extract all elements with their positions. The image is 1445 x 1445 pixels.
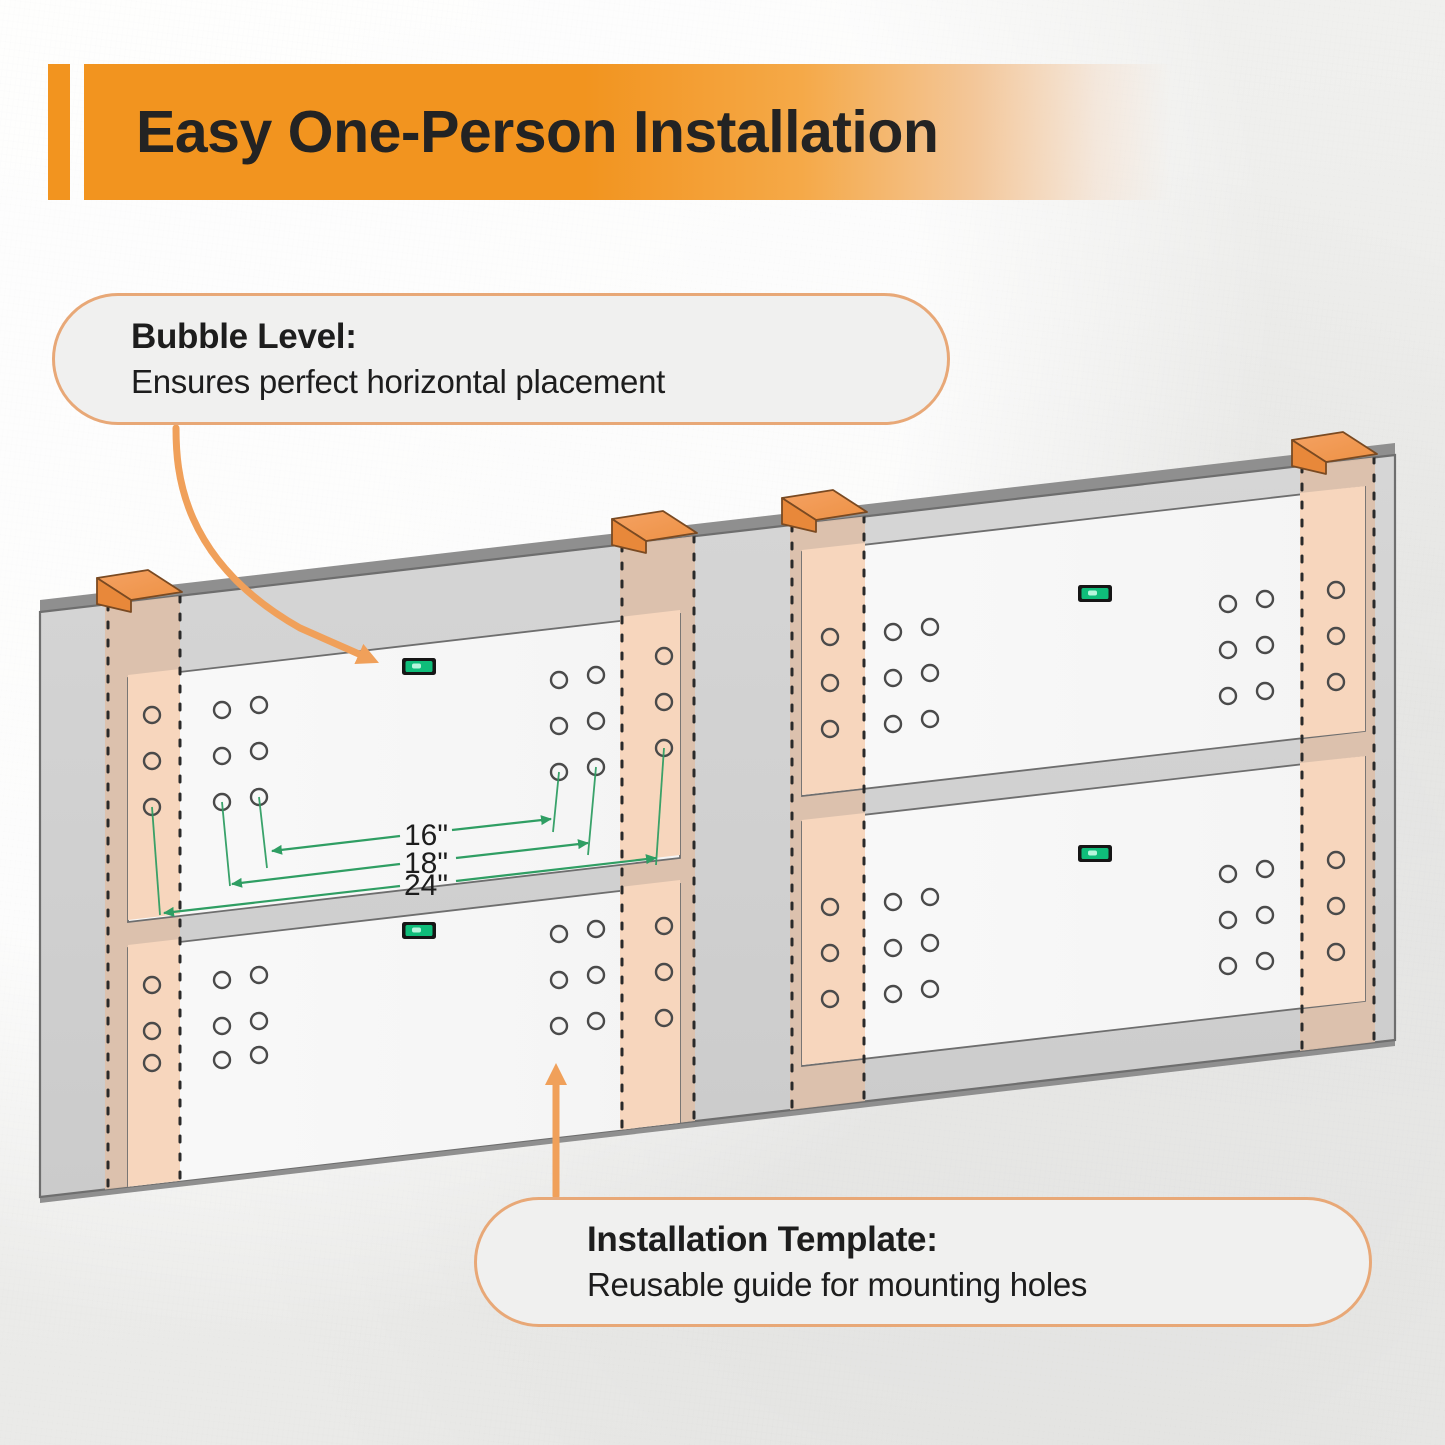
header-banner: Easy One-Person Installation <box>48 64 1172 200</box>
callout-bubble-level-title: Bubble Level: <box>131 317 947 357</box>
callout-installation-template: Installation Template: Reusable guide fo… <box>474 1197 1372 1327</box>
dimension-label-24: 24" <box>404 869 448 902</box>
callout-bubble-level: Bubble Level: Ensures perfect horizontal… <box>52 293 950 425</box>
stud-strip-lit <box>1300 486 1365 738</box>
callout-installation-template-subtitle: Reusable guide for mounting holes <box>587 1266 1369 1304</box>
stud-strip-lit <box>802 543 865 795</box>
callout-installation-template-title: Installation Template: <box>587 1220 1369 1260</box>
stud-strip-lit <box>802 813 865 1065</box>
bubble-level-indicator <box>1078 845 1112 862</box>
page-title: Easy One-Person Installation <box>136 98 938 166</box>
stud-strip-lit <box>620 610 680 862</box>
stud-strip-lit <box>1300 756 1365 1008</box>
header-accent-bar <box>48 64 70 200</box>
callout-bubble-level-subtitle: Ensures perfect horizontal placement <box>131 363 947 401</box>
wall-assembly: 16" 18" 24" <box>40 432 1395 1203</box>
bubble-level-indicator <box>1078 585 1112 602</box>
header-band: Easy One-Person Installation <box>84 64 1172 200</box>
bubble-level-indicator <box>402 658 436 675</box>
stud-strip-lit <box>620 880 680 1132</box>
bubble-level-indicator <box>402 922 436 939</box>
